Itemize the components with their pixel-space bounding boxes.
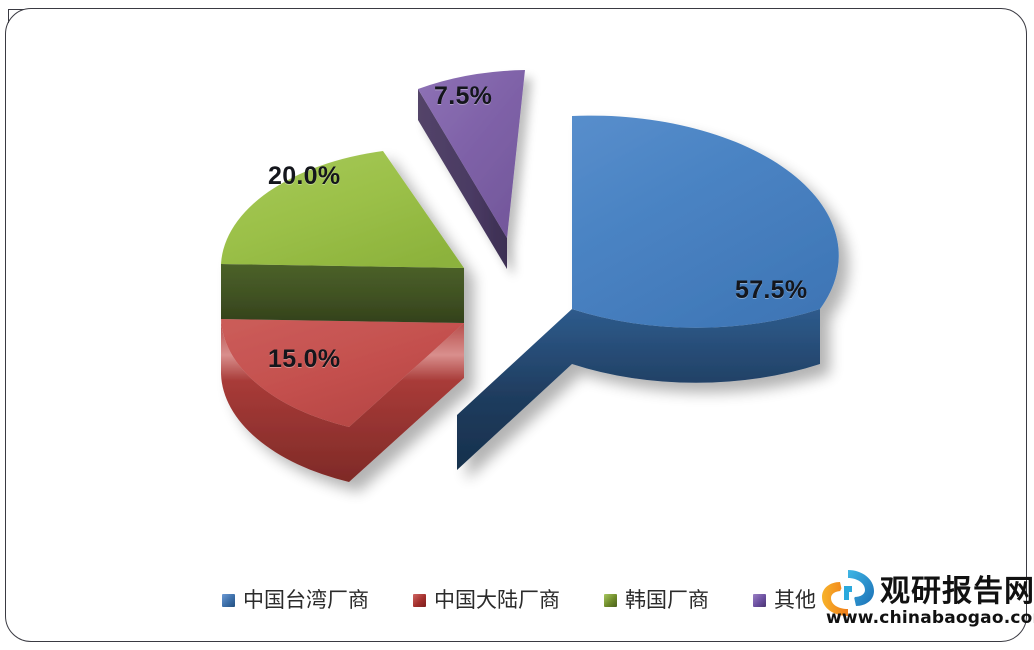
plot-area: 57.5% 20.0% 15.0% 7.5% bbox=[0, 0, 1034, 560]
legend-label-others: 其他 bbox=[774, 590, 816, 611]
legend-label-korea: 韩国厂商 bbox=[625, 590, 709, 611]
legend-label-taiwan: 中国台湾厂商 bbox=[243, 590, 369, 611]
legend-item-mainland[interactable]: 中国大陆厂商 bbox=[413, 590, 560, 611]
legend-item-korea[interactable]: 韩国厂商 bbox=[604, 590, 709, 611]
legend-item-others[interactable]: 其他 bbox=[753, 590, 816, 611]
pie-slice-red[interactable] bbox=[221, 319, 464, 482]
legend-swatch-purple-icon bbox=[753, 594, 766, 607]
slice-group-left bbox=[221, 151, 464, 482]
legend-label-mainland: 中国大陆厂商 bbox=[434, 590, 560, 611]
pie-slice-green-top bbox=[221, 151, 464, 268]
legend-item-taiwan[interactable]: 中国台湾厂商 bbox=[222, 590, 369, 611]
data-label-red: 15.0% bbox=[268, 345, 340, 374]
legend-swatch-blue-icon bbox=[222, 594, 235, 607]
pie-slice-green-side bbox=[221, 264, 464, 323]
data-label-green: 20.0% bbox=[268, 162, 340, 191]
data-label-blue: 57.5% bbox=[735, 276, 807, 305]
data-label-purple: 7.5% bbox=[434, 82, 492, 111]
pie-slice-green[interactable] bbox=[221, 151, 464, 323]
pie-svg bbox=[0, 0, 1034, 560]
legend-swatch-green-icon bbox=[604, 594, 617, 607]
chart-legend: 中国台湾厂商 中国大陆厂商 韩国厂商 其他 bbox=[0, 580, 1034, 620]
pie-slice-blue-side bbox=[457, 309, 820, 470]
pie-chart-figure: 57.5% 20.0% 15.0% 7.5% 中国台湾厂商 中国大陆厂商 韩国厂… bbox=[0, 0, 1034, 650]
legend-swatch-red-icon bbox=[413, 594, 426, 607]
